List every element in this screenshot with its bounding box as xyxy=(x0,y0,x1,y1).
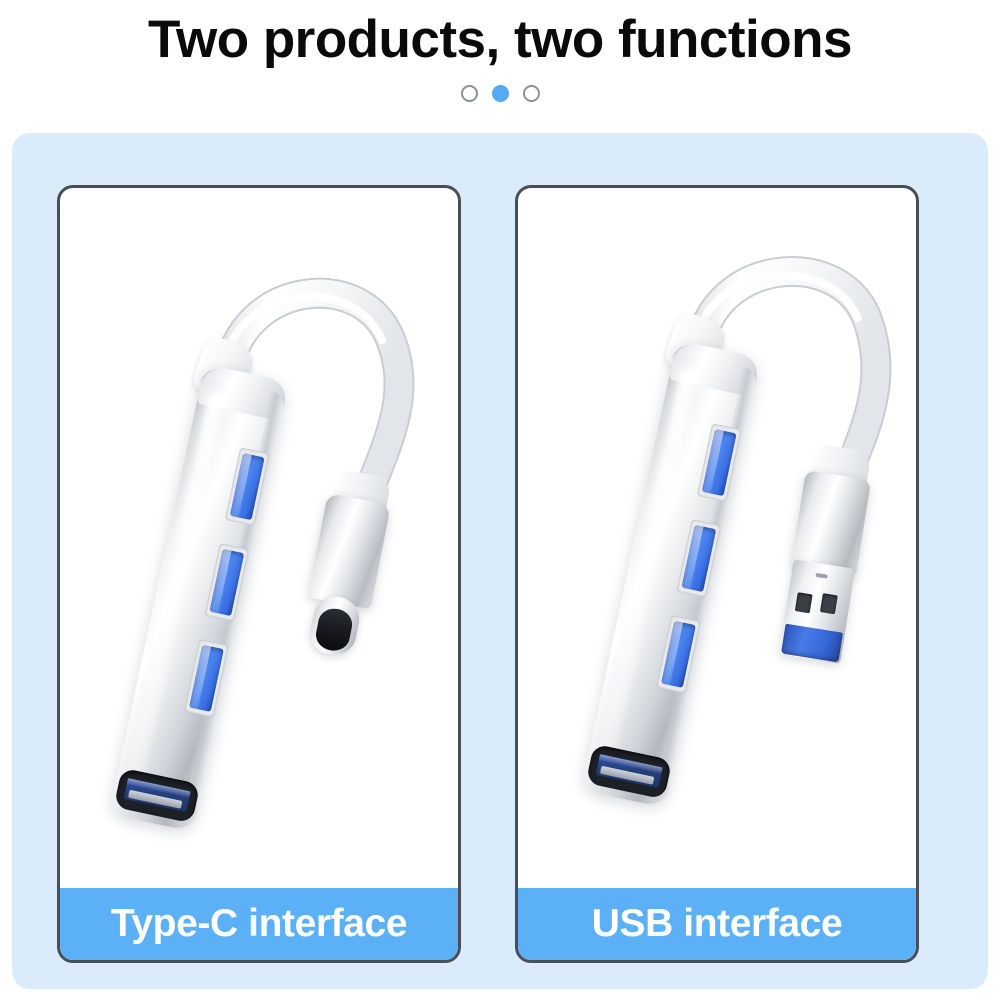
product-card-type-c[interactable]: Type-C interface xyxy=(57,185,461,963)
header: Two products, two functions xyxy=(0,0,1000,125)
product-comparison-panel: Type-C interface xyxy=(12,133,988,989)
card-label-type-c: Type-C interface xyxy=(60,888,458,960)
pagination-dot-1[interactable] xyxy=(461,85,478,102)
usb-a-slot-right xyxy=(820,593,838,614)
card-label-usb: USB interface xyxy=(518,888,916,960)
page-title: Two products, two functions xyxy=(0,8,1000,72)
usb-a-slot-left xyxy=(795,592,813,613)
product-infographic: Two products, two functions xyxy=(0,0,1000,1000)
pagination-dot-3[interactable] xyxy=(523,85,540,102)
product-card-usb[interactable]: USB interface xyxy=(515,185,919,963)
product-illustration-type-c xyxy=(60,188,458,888)
product-image-usb xyxy=(518,188,916,888)
pagination-dot-2-active[interactable] xyxy=(492,85,509,102)
carousel-pagination[interactable] xyxy=(0,85,1000,102)
product-image-type-c xyxy=(60,188,458,888)
card-label-usb-text: USB interface xyxy=(592,902,843,946)
card-label-type-c-text: Type-C interface xyxy=(111,902,407,946)
product-illustration-usb xyxy=(518,188,916,888)
